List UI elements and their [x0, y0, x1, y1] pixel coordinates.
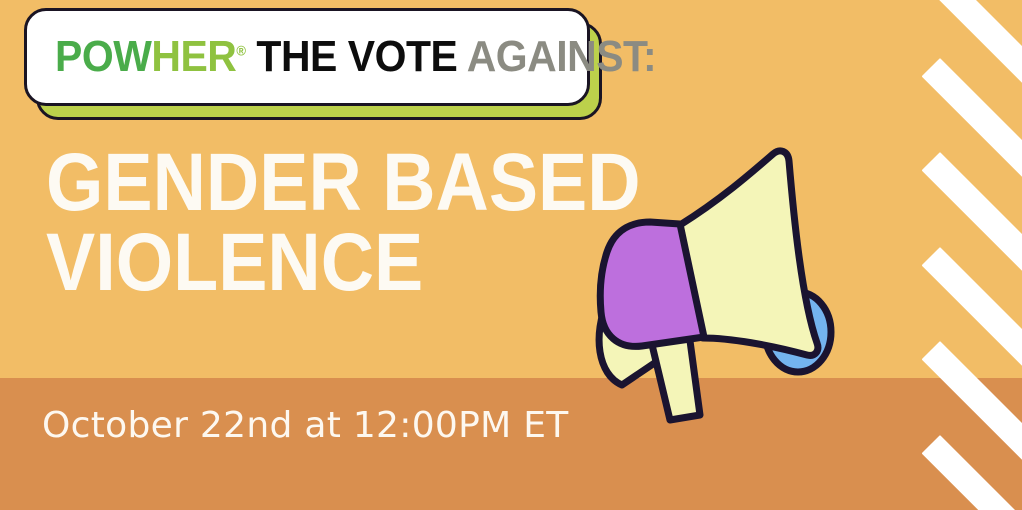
event-datetime: October 22nd at 12:00PM ET [42, 405, 569, 446]
logo-pow-text: POW [55, 32, 151, 81]
logo-her-text: HER [151, 32, 236, 81]
logo-against-text: AGAINST: [457, 32, 656, 81]
megaphone-icon [570, 130, 870, 430]
registered-trademark-icon: ® [236, 42, 245, 58]
logo-text: POWHER® THE VOTE AGAINST: [55, 35, 656, 79]
logo-the-vote-text: THE VOTE [246, 32, 458, 81]
powher-the-vote-logo: POWHER® THE VOTE AGAINST: [24, 8, 602, 120]
page-title: GENDER BASED VIOLENCE [46, 143, 641, 304]
logo-box: POWHER® THE VOTE AGAINST: [24, 8, 590, 106]
headline-line-2: VIOLENCE [46, 223, 641, 303]
headline-line-1: GENDER BASED [46, 143, 641, 223]
promo-poster: POWHER® THE VOTE AGAINST: GENDER BASED V… [0, 0, 1022, 510]
